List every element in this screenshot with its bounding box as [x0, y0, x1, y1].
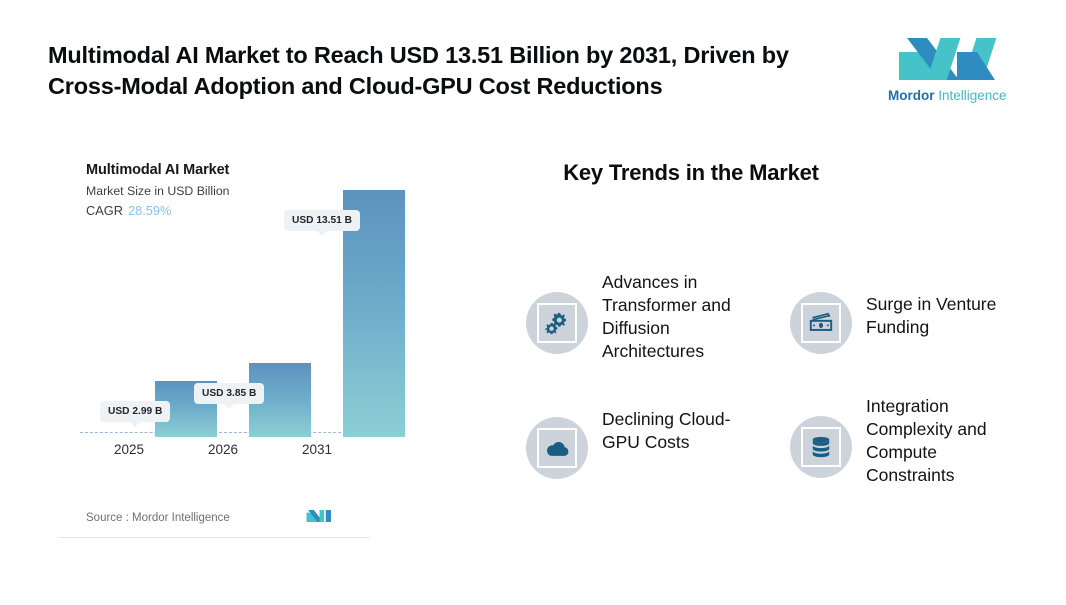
page-title: Multimodal AI Market to Reach USD 13.51 … — [48, 40, 868, 102]
trend-item-3: Declining Cloud-GPU Costs — [526, 407, 756, 479]
brand-name: Mordor Intelligence — [888, 88, 1006, 104]
trend-icon-wrap-1 — [526, 292, 588, 354]
bar-label-2025: USD 2.99 B — [100, 401, 170, 422]
trend-item-4: Integration Complexity and Compute Const… — [790, 394, 1025, 487]
bar-label-2031: USD 13.51 B — [284, 210, 360, 231]
mordor-mark-icon — [306, 508, 332, 524]
chart-source: Source : Mordor Intelligence — [86, 512, 230, 524]
reference-line — [80, 432, 366, 433]
x-tick-2026: 2026 — [183, 442, 263, 457]
trend-item-1: Advances in Transformer and Diffusion Ar… — [526, 270, 756, 363]
bar-chart-plot: USD 2.99 B USD 3.85 B USD 13.51 B 2025 2… — [58, 235, 370, 480]
trends-title: Key Trends in the Market — [536, 160, 846, 186]
brand-logo: Mordor Intelligence — [888, 30, 1006, 110]
trend-label-3: Declining Cloud-GPU Costs — [602, 407, 756, 454]
trend-item-2: Surge in Venture Funding — [790, 292, 1025, 354]
cloud-icon — [544, 435, 571, 462]
x-tick-2025: 2025 — [89, 442, 169, 457]
brand-name-primary: Mordor — [888, 88, 935, 103]
trend-label-1: Advances in Transformer and Diffusion Ar… — [602, 270, 756, 363]
cagr-label: CAGR — [86, 203, 123, 218]
mordor-intelligence-logo-icon — [897, 30, 997, 84]
trend-icon-wrap-4 — [790, 416, 852, 478]
trend-label-4: Integration Complexity and Compute Const… — [866, 394, 1025, 487]
infographic-page: Multimodal AI Market to Reach USD 13.51 … — [0, 0, 1066, 605]
banknotes-icon — [808, 310, 834, 336]
cagr-value: 28.59% — [128, 203, 171, 218]
bar-label-2026: USD 3.85 B — [194, 383, 264, 404]
market-size-chart-card: Multimodal AI Market Market Size in USD … — [58, 140, 370, 538]
header: Multimodal AI Market to Reach USD 13.51 … — [0, 0, 1066, 125]
chart-cagr: CAGR28.59% — [86, 203, 171, 218]
chart-title: Multimodal AI Market — [86, 162, 229, 178]
trend-icon-wrap-2 — [790, 292, 852, 354]
brand-name-secondary: Intelligence — [938, 88, 1006, 103]
gears-icon — [544, 310, 570, 336]
chart-subtitle: Market Size in USD Billion — [86, 184, 230, 198]
x-tick-2031: 2031 — [277, 442, 357, 457]
database-icon — [808, 434, 834, 460]
trend-icon-wrap-3 — [526, 417, 588, 479]
trend-label-2: Surge in Venture Funding — [866, 292, 1025, 339]
